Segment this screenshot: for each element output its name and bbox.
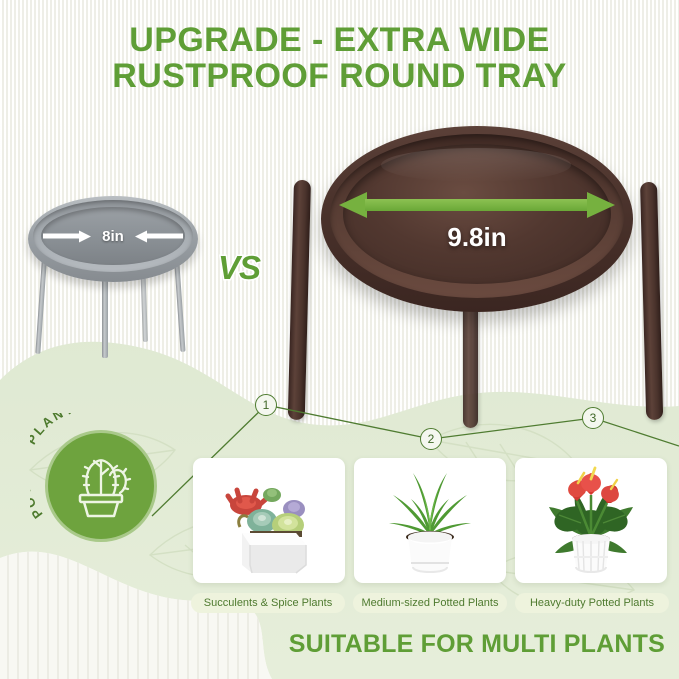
- cactus-in-pot-icon: [62, 447, 140, 525]
- plant-card-label: Heavy-duty Potted Plants: [515, 593, 669, 613]
- brown-dimension-label: 9.8in: [321, 222, 633, 253]
- headline-line-2: RUSTPROOF ROUND TRAY: [0, 58, 679, 94]
- aloe-round-pot-art: [354, 458, 506, 583]
- plant-card-label: Succulents & Spice Plants: [191, 593, 345, 613]
- anthurium-ribbed-pot-art: [515, 458, 667, 583]
- arrow-right-white-icon: [43, 231, 91, 242]
- brown-dimension-callout: 9.8in: [321, 178, 633, 264]
- silver-dimension-callout: 8in: [41, 223, 185, 249]
- headline: UPGRADE - EXTRA WIDE RUSTPROOF ROUND TRA…: [0, 22, 679, 94]
- headline-line-1: UPGRADE - EXTRA WIDE: [0, 22, 679, 58]
- plant-card-labels: Succulents & Spice Plants Medium-sized P…: [191, 593, 669, 613]
- connector-node-3: 3: [582, 407, 604, 429]
- arrow-left-white-icon: [135, 231, 183, 242]
- plant-card-label: Medium-sized Potted Plants: [353, 593, 507, 613]
- versus-label: VS: [218, 249, 260, 287]
- silver-tray-body: 8in: [28, 196, 198, 282]
- potted-plant-badge: POTTED PLANT: [36, 421, 166, 551]
- bottom-tagline: SUITABLE FOR MULTI PLANTS: [289, 630, 665, 659]
- brown-tray-highlight: [381, 148, 571, 182]
- arrow-double-green-icon: [339, 192, 615, 218]
- plant-card[interactable]: [515, 458, 667, 583]
- plant-card[interactable]: [354, 458, 506, 583]
- silver-dimension-label: 8in: [102, 228, 124, 245]
- connector-node-2: 2: [420, 428, 442, 450]
- succulents-hexagon-pot-art: [193, 458, 345, 583]
- plant-card-list: [193, 458, 667, 583]
- plant-card[interactable]: [193, 458, 345, 583]
- connector-node-1: 1: [255, 394, 277, 416]
- product-infographic: UPGRADE - EXTRA WIDE RUSTPROOF ROUND TRA…: [0, 0, 679, 679]
